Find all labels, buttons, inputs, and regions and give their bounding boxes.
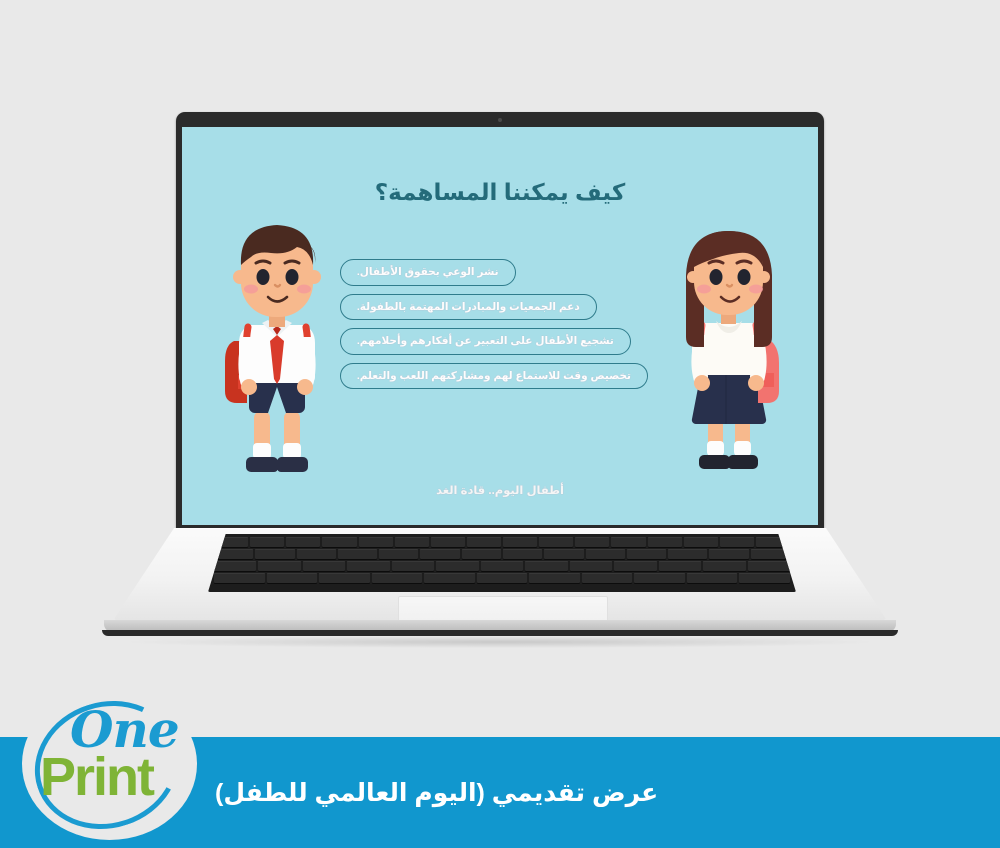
screenshot-canvas: كيف يمكننا المساهمة؟ xyxy=(0,0,1000,848)
laptop-screen: كيف يمكننا المساهمة؟ xyxy=(182,127,818,525)
slide-tagline: أطفال اليوم.. قادة الغد xyxy=(182,483,818,497)
schoolgirl-illustration xyxy=(668,215,788,483)
list-item: تخصيص وقت للاستماع لهم ومشاركتهم اللعب و… xyxy=(340,363,648,390)
footer-caption: عرض تقديمي (اليوم العالمي للطفل) xyxy=(215,737,964,848)
laptop-keyboard xyxy=(208,534,796,592)
schoolboy-illustration xyxy=(218,215,336,483)
slide-bullet-list: نشر الوعي بحقوق الأطفال. دعم الجمعيات وا… xyxy=(340,259,648,389)
presentation-slide: كيف يمكننا المساهمة؟ xyxy=(182,127,818,525)
laptop-mockup: كيف يمكننا المساهمة؟ xyxy=(0,0,1000,660)
laptop-floor-shadow xyxy=(130,636,870,648)
logo-word-print: Print xyxy=(40,746,153,808)
brand-logo: One Print xyxy=(26,694,188,834)
webcam-icon xyxy=(498,118,502,122)
slide-title: كيف يمكننا المساهمة؟ xyxy=(182,179,818,206)
list-item: تشجيع الأطفال على التعبير عن أفكارهم وأح… xyxy=(340,328,631,355)
list-item: دعم الجمعيات والمبادرات المهتمة بالطفولة… xyxy=(340,294,597,321)
list-item: نشر الوعي بحقوق الأطفال. xyxy=(340,259,516,286)
laptop-lid: كيف يمكننا المساهمة؟ xyxy=(176,112,824,530)
